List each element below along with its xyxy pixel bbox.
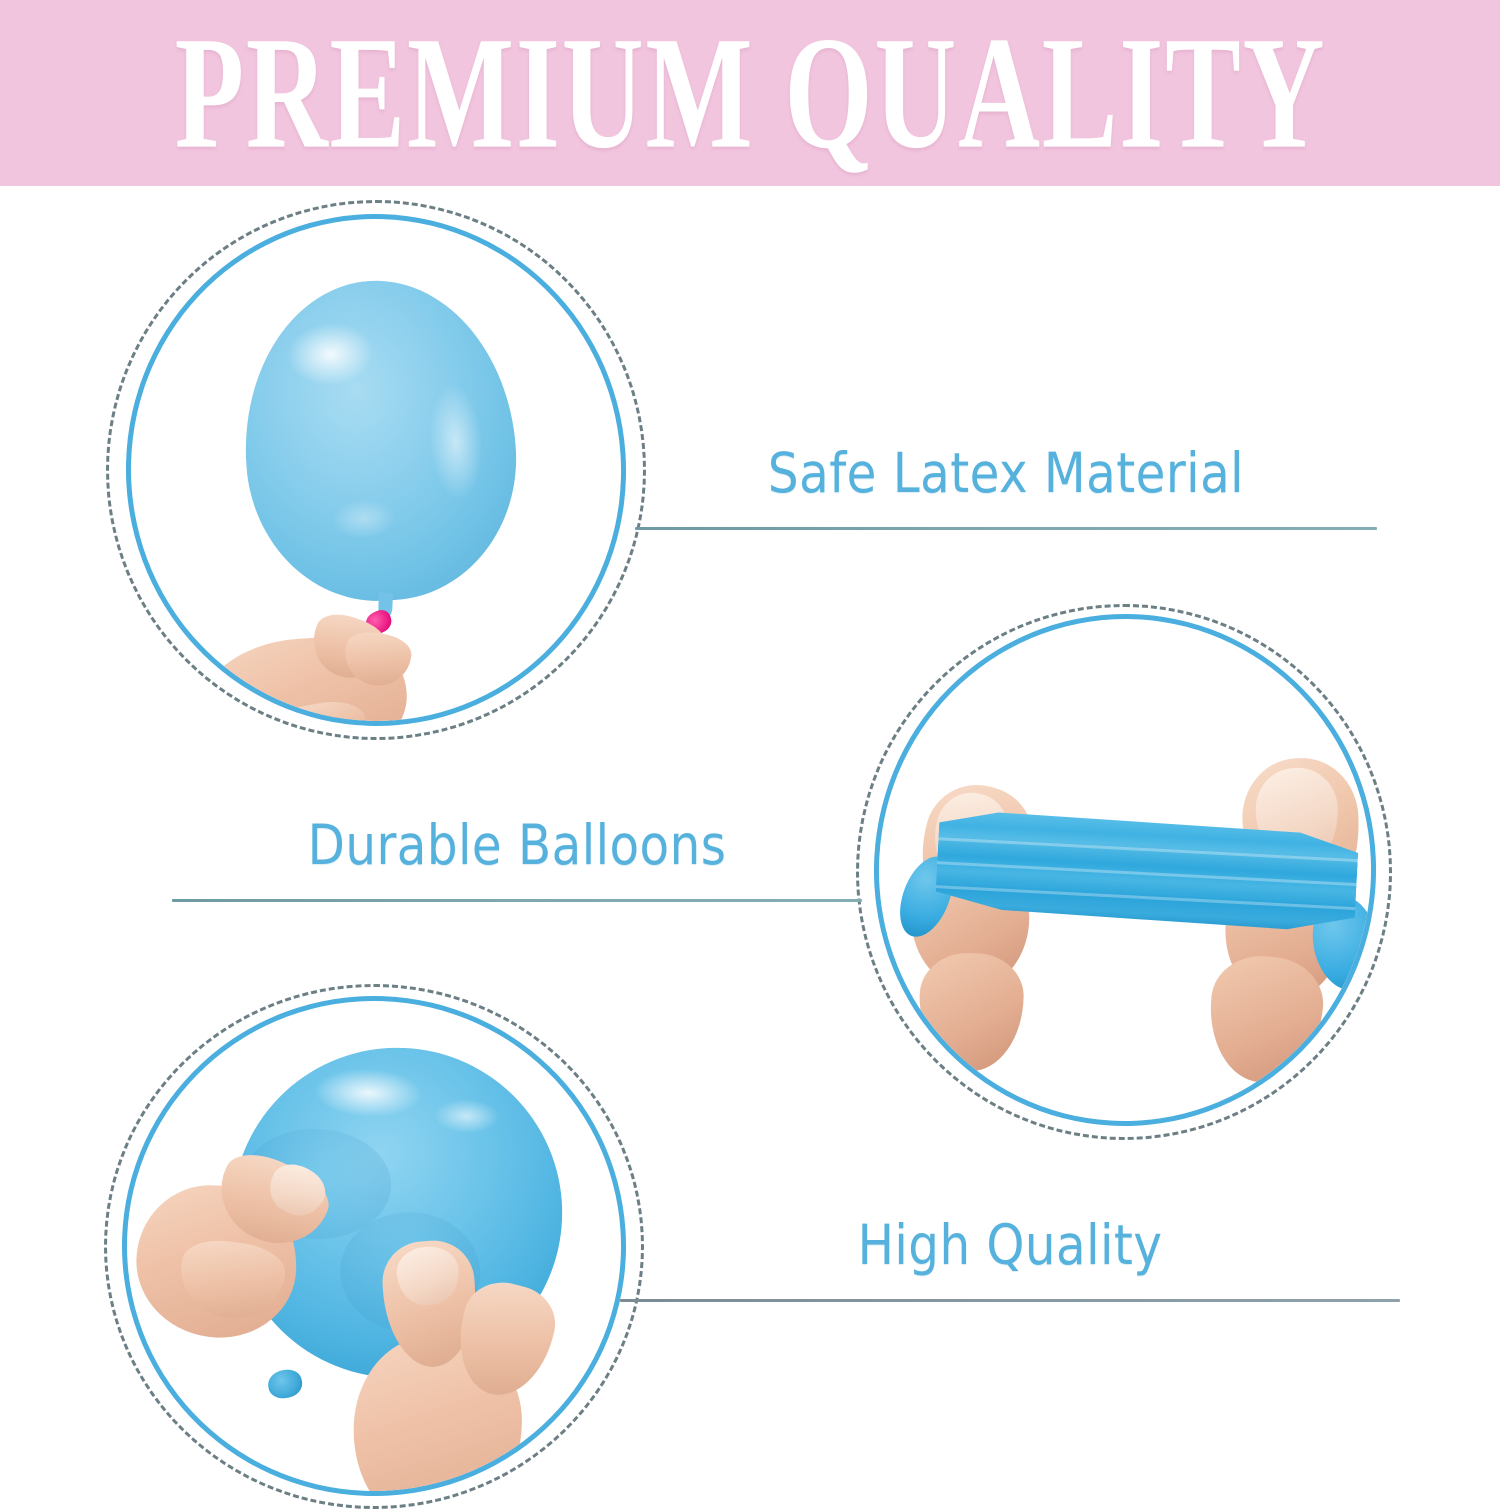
- hand-graphic: [191, 602, 462, 737]
- feature-label-text: Durable Balloons: [213, 818, 820, 873]
- hand-graphic-left: [132, 1143, 370, 1381]
- feature-label-safe-latex-material: Safe Latex Material: [635, 446, 1377, 530]
- knuckle-shape: [918, 952, 1024, 1072]
- feature-label-text: Safe Latex Material: [680, 446, 1333, 501]
- feature-label-durable-balloons: Durable Balloons: [172, 818, 862, 902]
- feature-label-text: High Quality: [667, 1218, 1353, 1273]
- label-underline-rule: [620, 1299, 1400, 1302]
- feature-photo-durable-balloons: [856, 604, 1392, 1140]
- feature-label-high-quality: High Quality: [620, 1218, 1400, 1302]
- knuckle-shape: [1203, 951, 1328, 1088]
- feature-photo-high-quality: [104, 984, 644, 1509]
- label-underline-rule: [172, 899, 862, 902]
- page-title: PREMIUM QUALITY: [174, 12, 1326, 173]
- header-banner: PREMIUM QUALITY: [0, 0, 1500, 186]
- feature-photo-safe-latex-material: [106, 200, 646, 740]
- label-underline-rule: [635, 527, 1377, 530]
- balloon-graphic: [234, 272, 526, 610]
- hand-graphic-right: [332, 1238, 572, 1500]
